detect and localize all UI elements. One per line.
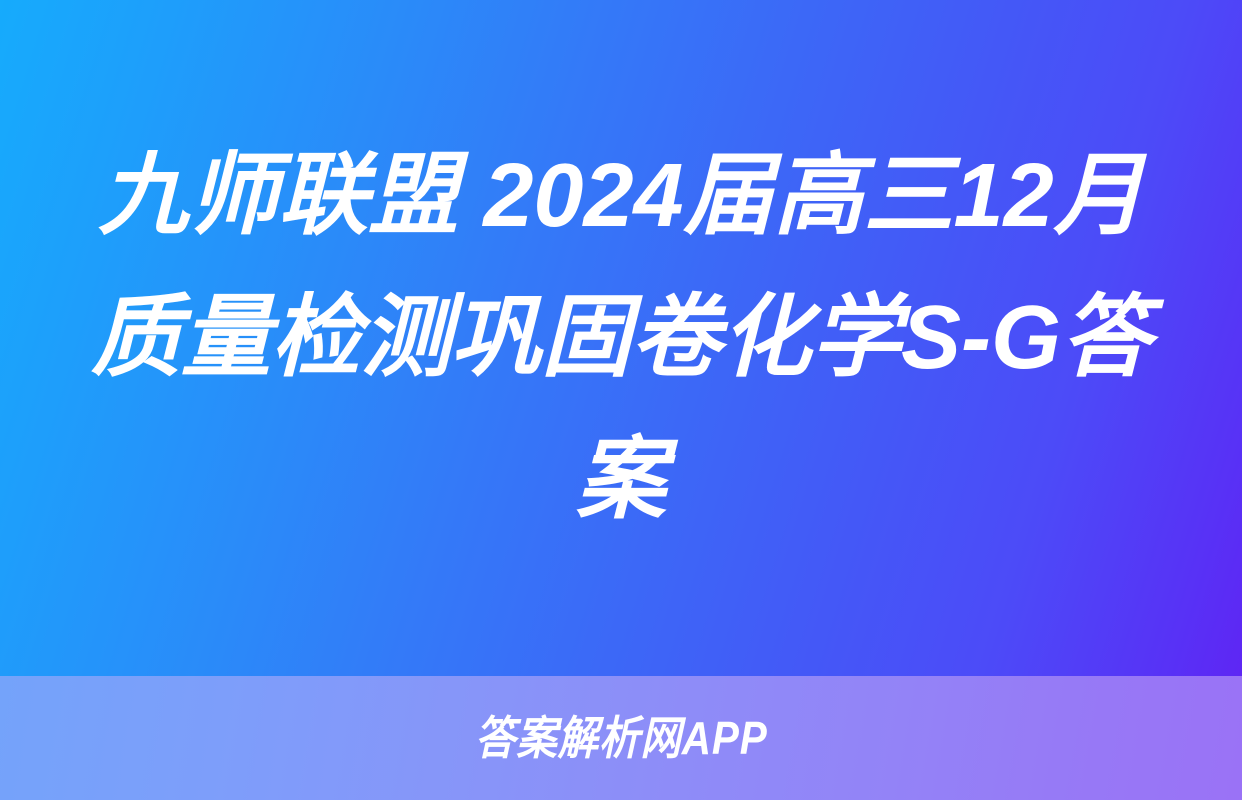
- footer-brand-bar: 答案解析网APP: [0, 676, 1242, 800]
- title-container: 九师联盟 2024届高三12月质量检测巩固卷化学S-G答案: [0, 0, 1242, 676]
- brand-label: 答案解析网APP: [475, 715, 768, 761]
- page-title: 九师联盟 2024届高三12月质量检测巩固卷化学S-G答案: [81, 125, 1161, 551]
- share-cover-card: 九师联盟 2024届高三12月质量检测巩固卷化学S-G答案 答案解析网APP: [0, 0, 1242, 800]
